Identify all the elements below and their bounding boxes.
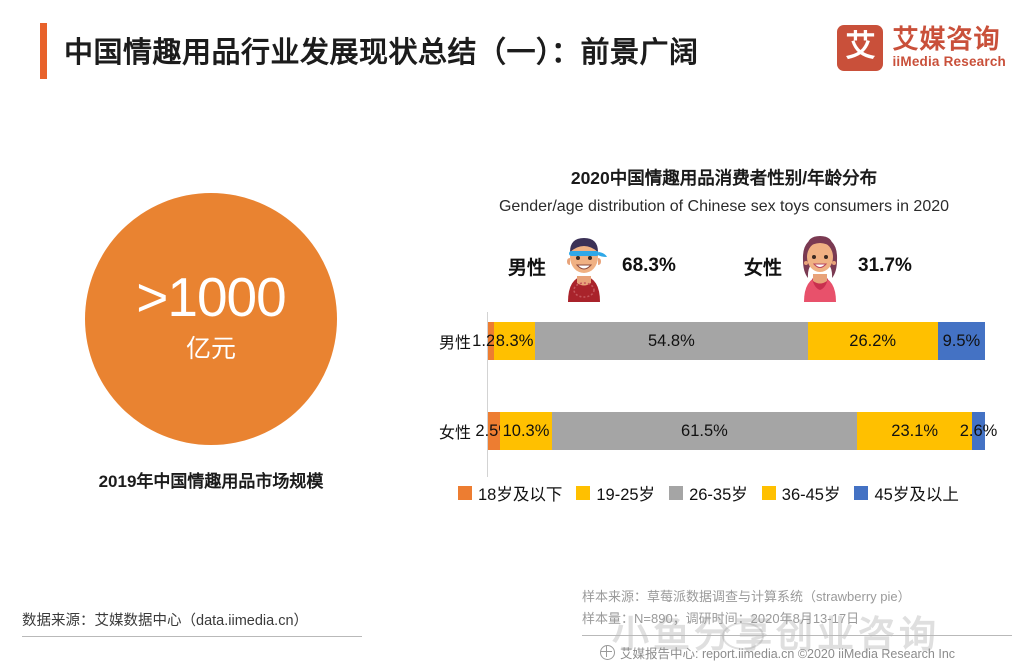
- female-avatar-icon: [792, 230, 848, 302]
- legend-label: 26-35岁: [689, 481, 748, 505]
- male-avatar-icon: [556, 230, 612, 302]
- market-size-value: >1000: [136, 270, 285, 325]
- bar-row-female: 女性 2.5% 10.3% 61.5% 23.1% 2.6%: [424, 411, 1024, 451]
- chart-title: 2020中国情趣用品消费者性别/年龄分布: [424, 165, 1024, 190]
- brand-text: 艾媒咨询 iiMedia Research: [892, 26, 1006, 70]
- gender-summary-male: 男性 68.3%: [508, 230, 676, 302]
- legend-swatch-icon: [576, 486, 590, 500]
- gender-summary-female: 女性 31.7%: [744, 230, 912, 302]
- bar-segment: 8.3%: [494, 322, 535, 360]
- chart-legend: 18岁及以下 19-25岁 26-35岁 36-45岁 45岁及以上: [424, 479, 1024, 507]
- legend-label: 36-45岁: [782, 481, 841, 505]
- legend-swatch-icon: [458, 486, 472, 500]
- brand-mark-icon: 艾: [837, 25, 883, 71]
- bar-segment: 9.5%: [938, 322, 985, 360]
- gender-summary: 男性 68.3% 女性: [424, 224, 1024, 310]
- legend-item[interactable]: 26-35岁: [669, 481, 748, 505]
- report-center-footer: 艾媒报告中心: report.iimedia.cn ©2020 iiMedia …: [600, 643, 955, 662]
- bar-segment-label: 26.2%: [849, 332, 896, 351]
- bar-segment-label: 8.3%: [496, 332, 534, 351]
- legend-swatch-icon: [762, 486, 776, 500]
- legend-swatch-icon: [854, 486, 868, 500]
- market-size-circle: >1000 亿元: [85, 193, 337, 445]
- globe-icon: [600, 645, 615, 660]
- legend-label: 45岁及以上: [874, 481, 958, 505]
- sample-source-text: 样本来源：草莓派数据调查与计算系统（strawberry pie）: [582, 586, 1012, 609]
- legend-label: 18岁及以下: [478, 481, 562, 505]
- bar-segment-label: 9.5%: [943, 332, 981, 351]
- brand-name-en: iiMedia Research: [892, 54, 1006, 70]
- brand-logo: 艾 艾媒咨询 iiMedia Research: [837, 25, 1006, 71]
- legend-item[interactable]: 36-45岁: [762, 481, 841, 505]
- bar-segment: 10.3%: [500, 412, 551, 450]
- stacked-bars: 男性 1.2% 8.3% 54.8% 26.2% 9.5%: [424, 312, 1024, 477]
- page-header: 中国情趣用品行业发展现状总结（一）：前景广阔 艾 艾媒咨询 iiMedia Re…: [0, 0, 1024, 100]
- footer-divider: [582, 635, 1012, 636]
- page-title: 中国情趣用品行业发展现状总结（一）：前景广阔: [64, 29, 699, 71]
- gender-age-chart: 2020中国情趣用品消费者性别/年龄分布 Gender/age distribu…: [424, 165, 1024, 507]
- legend-item[interactable]: 19-25岁: [576, 481, 655, 505]
- bar-segment-label: 23.1%: [891, 422, 938, 441]
- bar-segment: 2.6%: [972, 412, 985, 450]
- data-source-text: 数据来源：艾媒数据中心（data.iimedia.cn）: [22, 609, 382, 630]
- bar-segment: 26.2%: [808, 322, 938, 360]
- market-size-caption: 2019年中国情趣用品市场规模: [76, 467, 346, 492]
- bar-segment: 54.8%: [535, 322, 807, 360]
- gender-summary-female-label: 女性: [744, 253, 782, 280]
- market-size-unit: 亿元: [186, 337, 236, 362]
- legend-label: 19-25岁: [596, 481, 655, 505]
- bar-segment-label: 10.3%: [503, 422, 550, 441]
- bar-segment-label: 61.5%: [681, 422, 728, 441]
- sample-info-footer: 样本来源：草莓派数据调查与计算系统（strawberry pie） 样本量：N=…: [582, 586, 1012, 637]
- bar-segment-label: 54.8%: [648, 332, 695, 351]
- bar-category-label: 女性: [439, 419, 471, 443]
- gender-summary-female-value: 31.7%: [858, 255, 912, 277]
- market-size-stat: >1000 亿元 2019年中国情趣用品市场规模: [76, 193, 346, 492]
- title-accent-bar: [40, 23, 47, 79]
- bar-segment: 61.5%: [552, 412, 858, 450]
- legend-item[interactable]: 45岁及以上: [854, 481, 958, 505]
- bar-segment: 2.5%: [488, 412, 500, 450]
- bar-row-male: 男性 1.2% 8.3% 54.8% 26.2% 9.5%: [424, 321, 1024, 361]
- data-source-footer: 数据来源：艾媒数据中心（data.iimedia.cn）: [22, 609, 382, 637]
- brand-name-cn: 艾媒咨询: [892, 26, 1006, 53]
- bar-segment: 23.1%: [857, 412, 972, 450]
- bar-category-label: 男性: [439, 329, 471, 353]
- footer-divider: [22, 636, 362, 637]
- bar-segment-label: 2.6%: [960, 422, 998, 441]
- legend-item[interactable]: 18岁及以下: [458, 481, 562, 505]
- bar-track-female: 2.5% 10.3% 61.5% 23.1% 2.6%: [488, 412, 985, 450]
- gender-summary-male-value: 68.3%: [622, 255, 676, 277]
- chart-subtitle: Gender/age distribution of Chinese sex t…: [424, 198, 1024, 216]
- gender-summary-male-label: 男性: [508, 253, 546, 280]
- bar-track-male: 1.2% 8.3% 54.8% 26.2% 9.5%: [488, 322, 985, 360]
- sample-size-text: 样本量：N=890；调研时间：2020年8月13-17日: [582, 608, 1012, 631]
- report-center-text: 艾媒报告中心: report.iimedia.cn ©2020 iiMedia …: [620, 643, 955, 662]
- legend-swatch-icon: [669, 486, 683, 500]
